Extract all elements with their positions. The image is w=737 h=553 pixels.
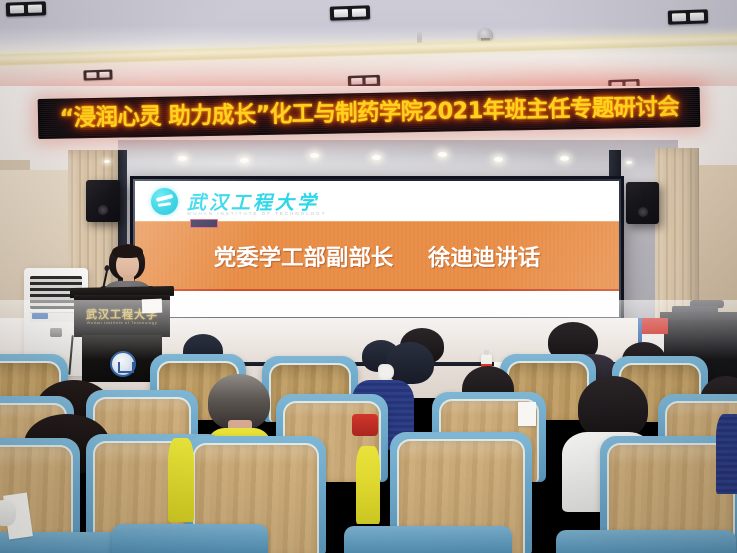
presenter-fringe bbox=[112, 245, 143, 258]
slide-footer-area bbox=[135, 291, 619, 317]
university-logo-icon bbox=[151, 188, 178, 215]
sprinkler-head bbox=[417, 30, 422, 43]
slide-title-role: 党委学工部副部长 bbox=[214, 246, 394, 271]
downlight-5 bbox=[438, 152, 447, 157]
attendee-yellow-shoulder bbox=[168, 438, 194, 522]
presentation-slide: 武汉工程大学 WUHAN INSTITUTE OF TECHNOLOGY 党委学… bbox=[135, 181, 619, 317]
attendee-yellow-right-edge bbox=[356, 446, 380, 524]
attendee-mask-left bbox=[378, 364, 394, 380]
ceiling-spotlight-1 bbox=[6, 1, 46, 16]
slide-band-marker bbox=[190, 219, 218, 228]
led-banner-text: “浸润心灵 助力成长”化工与制药学院2021年班主任专题研讨会 bbox=[59, 96, 679, 130]
slide-title-band: 党委学工部副部长徐迪迪讲话 bbox=[135, 221, 619, 291]
downlight-1 bbox=[178, 156, 187, 161]
downlight-7 bbox=[560, 156, 569, 161]
ceiling-spotlight-3 bbox=[668, 9, 708, 24]
attendee-blue-right-edge bbox=[716, 414, 737, 494]
slide-logo-text-en: WUHAN INSTITUTE OF TECHNOLOGY bbox=[187, 211, 327, 216]
attendee-red-item bbox=[352, 414, 378, 436]
slide-header: 武汉工程大学 WUHAN INSTITUTE OF TECHNOLOGY bbox=[135, 181, 619, 221]
downlight-4 bbox=[372, 155, 381, 160]
podium-papers bbox=[142, 299, 162, 314]
attendee-head-masked bbox=[386, 342, 434, 384]
attendee-hand-left bbox=[0, 500, 16, 526]
conference-hall-photo: “浸润心灵 助力成长”化工与制药学院2021年班主任专题研讨会 武汉工程大学 W… bbox=[0, 0, 737, 553]
seat-cushion-front-2[interactable] bbox=[112, 524, 268, 553]
slide-title-text: 党委学工部副部长徐迪迪讲话 bbox=[214, 240, 540, 272]
slide-title-name: 徐迪迪讲话 bbox=[428, 246, 540, 271]
downlight-6 bbox=[494, 157, 503, 162]
wall-speaker-left bbox=[86, 180, 120, 222]
paper-handout bbox=[518, 402, 536, 426]
downlight-8 bbox=[104, 160, 110, 163]
wall-speaker-right bbox=[626, 182, 659, 224]
attendee-head-ponytail bbox=[578, 376, 648, 440]
audience-area bbox=[0, 318, 737, 553]
seat-cushion-front-4[interactable] bbox=[556, 530, 736, 553]
ceiling-spotlight-2 bbox=[330, 5, 370, 20]
projection-screen: 武汉工程大学 WUHAN INSTITUTE OF TECHNOLOGY 党委学… bbox=[130, 176, 624, 322]
downlight-3 bbox=[310, 153, 319, 158]
downlight-9 bbox=[626, 161, 632, 164]
downlight-2 bbox=[240, 158, 249, 163]
seat-cushion-front-3[interactable] bbox=[344, 526, 512, 553]
